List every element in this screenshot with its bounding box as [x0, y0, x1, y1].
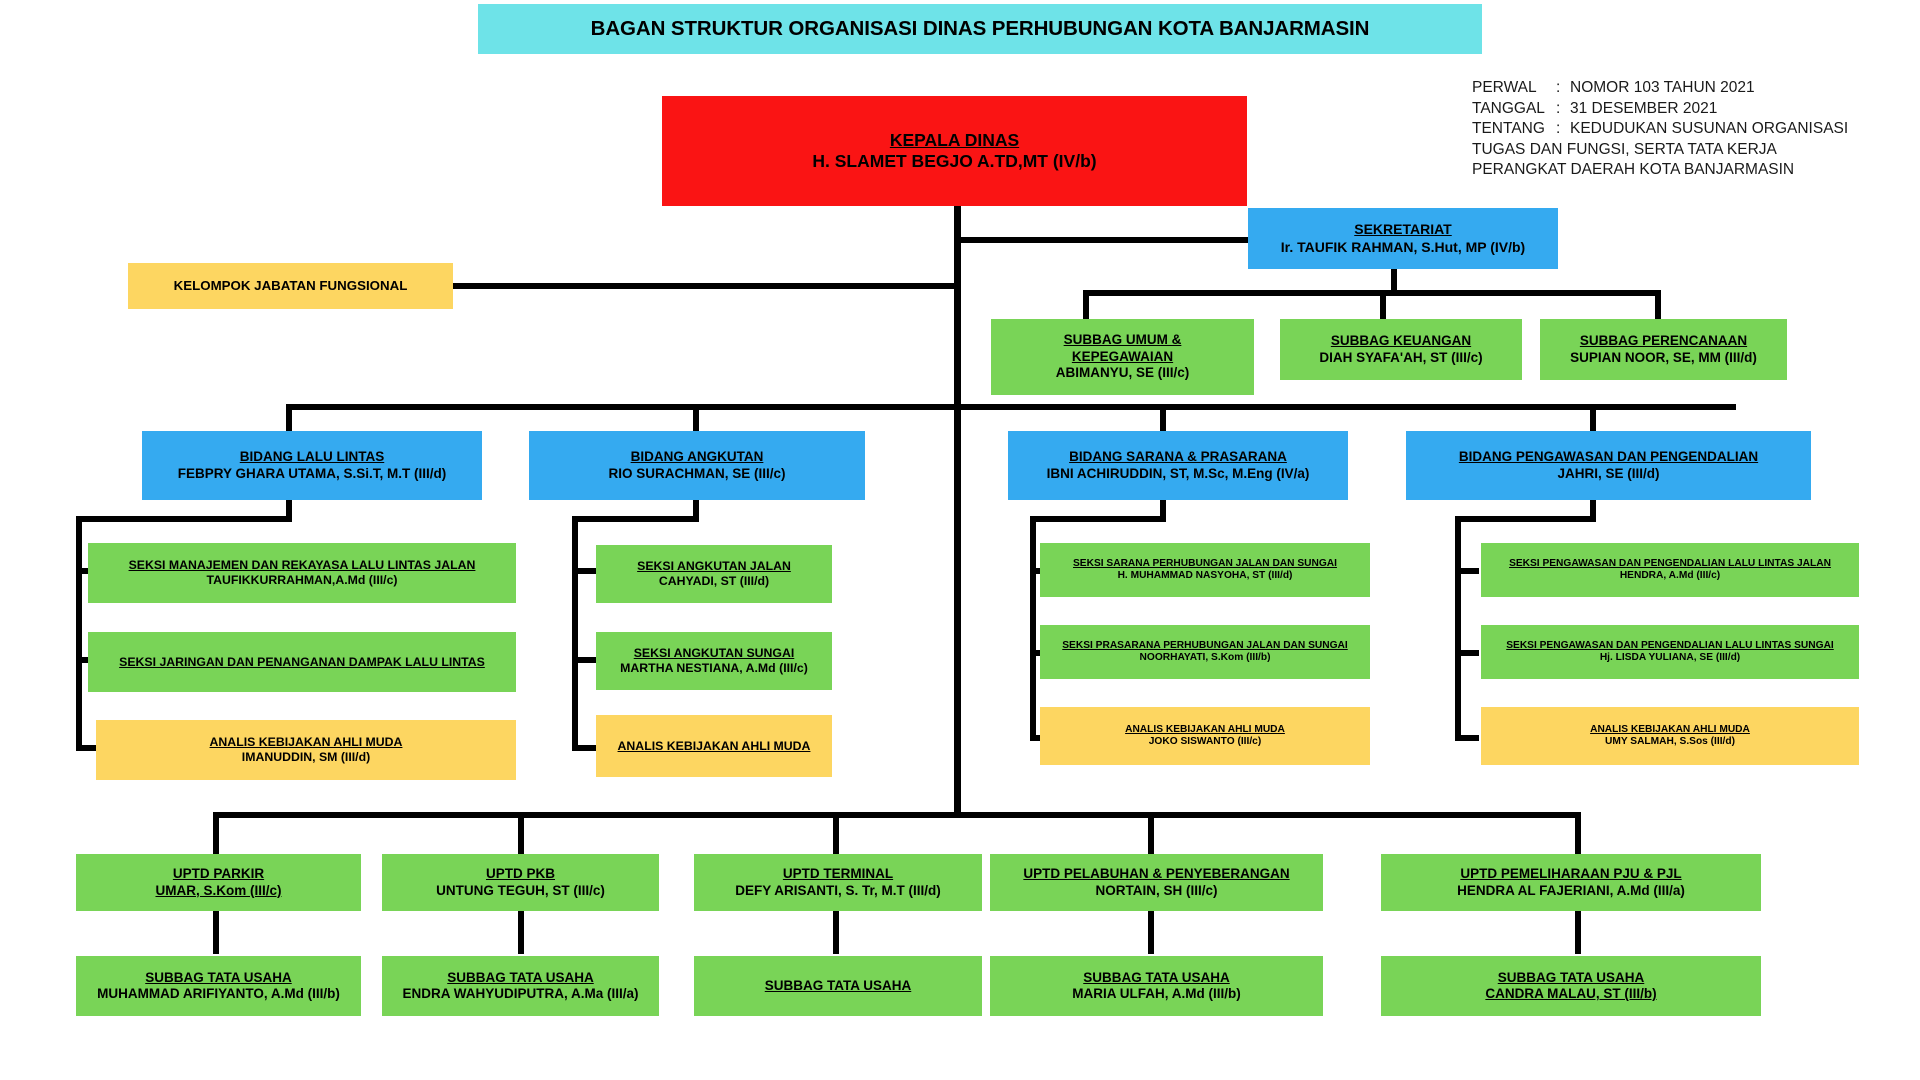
node-seksi-prasarana-perhubungan-title: SEKSI PRASARANA PERHUBUNGAN JALAN DAN SU… — [1062, 640, 1347, 652]
meta-continuation-2: PERANGKAT DAERAH KOTA BANJARMASIN — [1472, 160, 1848, 181]
node-uptd-pemeliharaan-name: HENDRA AL FAJERIANI, A.Md (III/a) — [1457, 883, 1685, 899]
node-seksi-angkutan-jalan-name: CAHYADI, ST (III/d) — [659, 574, 769, 589]
node-seksi-prasarana-perhubungan[interactable]: SEKSI PRASARANA PERHUBUNGAN JALAN DAN SU… — [1040, 625, 1370, 679]
node-analis-kebijakan-pengawasan[interactable]: ANALIS KEBIJAKAN AHLI MUDA UMY SALMAH, S… — [1481, 707, 1859, 765]
meta-label-tanggal: TANGGAL — [1472, 99, 1556, 120]
node-bidang-pengawasan-name: JAHRI, SE (III/d) — [1557, 466, 1659, 482]
node-subbag-umum-title-line2: KEPEGAWAIAN — [1072, 349, 1173, 365]
node-bidang-angkutan[interactable]: BIDANG ANGKUTAN RIO SURACHMAN, SE (III/c… — [529, 431, 865, 500]
node-subbag-umum-title-line1: SUBBAG UMUM & — [1064, 332, 1182, 348]
node-seksi-manajemen-rekayasa-name: TAUFIKKURRAHMAN,A.Md (III/c) — [206, 573, 397, 588]
node-analis-kebijakan-angkutan-title: ANALIS KEBIJAKAN AHLI MUDA — [618, 739, 811, 754]
connector-uptd2-to-subbag — [518, 910, 524, 954]
node-subbag-tu-parkir-title: SUBBAG TATA USAHA — [145, 970, 292, 986]
connector-bidang4-rail-top — [1455, 516, 1596, 522]
node-sekretariat[interactable]: SEKRETARIAT Ir. TAUFIK RAHMAN, S.Hut, MP… — [1248, 208, 1558, 269]
connector-uptd-drop-2 — [518, 812, 524, 854]
node-seksi-angkutan-sungai[interactable]: SEKSI ANGKUTAN SUNGAI MARTHA NESTIANA, A… — [596, 632, 832, 690]
node-uptd-terminal-name: DEFY ARISANTI, S. Tr, M.T (III/d) — [735, 883, 941, 899]
node-analis-kebijakan-lalu-lintas-name: IMANUDDIN, SM (III/d) — [242, 750, 370, 765]
node-sekretariat-title: SEKRETARIAT — [1354, 221, 1451, 238]
node-seksi-pengawasan-jalan-title: SEKSI PENGAWASAN DAN PENGENDALIAN LALU L… — [1509, 558, 1831, 570]
connector-bidang4-child-1 — [1455, 568, 1479, 574]
regulation-metadata: PERWAL:NOMOR 103 TAHUN 2021 TANGGAL:31 D… — [1472, 78, 1848, 181]
chart-title-banner: BAGAN STRUKTUR ORGANISASI DINAS PERHUBUN… — [478, 4, 1482, 54]
connector-bidang2-child-3 — [572, 745, 596, 751]
node-bidang-angkutan-title: BIDANG ANGKUTAN — [631, 449, 764, 465]
connector-bidang4-child-2 — [1455, 650, 1479, 656]
node-seksi-pengawasan-sungai-title: SEKSI PENGAWASAN DAN PENGENDALIAN LALU L… — [1506, 640, 1834, 652]
meta-row-perwal: PERWAL:NOMOR 103 TAHUN 2021 — [1472, 78, 1848, 99]
node-subbag-tu-pelabuhan-name: MARIA ULFAH, A.Md (III/b) — [1072, 986, 1240, 1002]
meta-label-tentang: TENTANG — [1472, 119, 1556, 140]
node-analis-kebijakan-lalu-lintas[interactable]: ANALIS KEBIJAKAN AHLI MUDA IMANUDDIN, SM… — [96, 720, 516, 780]
node-subbag-tu-pkb-title: SUBBAG TATA USAHA — [447, 970, 594, 986]
node-seksi-angkutan-jalan[interactable]: SEKSI ANGKUTAN JALAN CAHYADI, ST (III/d) — [596, 545, 832, 603]
connector-uptd4-to-subbag — [1148, 910, 1154, 954]
connector-uptd-drop-1 — [213, 812, 219, 854]
node-seksi-pengawasan-sungai-name: Hj. LISDA YULIANA, SE (III/d) — [1600, 652, 1740, 664]
node-subbag-tata-usaha-parkir[interactable]: SUBBAG TATA USAHA MUHAMMAD ARIFIYANTO, A… — [76, 956, 361, 1016]
connector-bidang2-rail-top — [572, 516, 699, 522]
connector-uptd-drop-4 — [1148, 812, 1154, 854]
node-subbag-keuangan[interactable]: SUBBAG KEUANGAN DIAH SYAFA'AH, ST (III/c… — [1280, 319, 1522, 380]
node-subbag-tu-pkb-name: ENDRA WAHYUDIPUTRA, A.Ma (III/a) — [402, 986, 638, 1002]
connector-bidang2-rail — [572, 516, 578, 751]
connector-bidang4-rail — [1455, 516, 1461, 741]
connector-uptd-drop-3 — [833, 812, 839, 854]
connector-bidang-drop-4 — [1590, 404, 1596, 432]
node-bidang-lalu-lintas[interactable]: BIDANG LALU LINTAS FEBPRY GHARA UTAMA, S… — [142, 431, 482, 500]
node-subbag-umum-kepegawaian[interactable]: SUBBAG UMUM & KEPEGAWAIAN ABIMANYU, SE (… — [991, 319, 1254, 395]
chart-title: BAGAN STRUKTUR ORGANISASI DINAS PERHUBUN… — [591, 17, 1370, 41]
node-uptd-pemeliharaan-title: UPTD PEMELIHARAAN PJU & PJL — [1460, 866, 1681, 882]
node-subbag-tu-parkir-name: MUHAMMAD ARIFIYANTO, A.Md (III/b) — [97, 986, 340, 1002]
connector-uptd-bus — [213, 812, 1581, 818]
connector-bidang4-child-3 — [1455, 735, 1479, 741]
node-analis-kebijakan-angkutan[interactable]: ANALIS KEBIJAKAN AHLI MUDA — [596, 715, 832, 777]
connector-bidang-drop-2 — [693, 404, 699, 432]
node-seksi-sarana-perhubungan-name: H. MUHAMMAD NASYOHA, ST (III/d) — [1118, 570, 1293, 582]
connector-bidang1-rail-top — [76, 516, 292, 522]
node-bidang-sarana-prasarana-title: BIDANG SARANA & PRASARANA — [1069, 449, 1287, 465]
connector-uptd5-to-subbag — [1575, 910, 1581, 954]
connector-head-to-sekretariat — [954, 237, 1254, 243]
node-seksi-pengawasan-jalan[interactable]: SEKSI PENGAWASAN DAN PENGENDALIAN LALU L… — [1481, 543, 1859, 597]
node-bidang-lalu-lintas-title: BIDANG LALU LINTAS — [240, 449, 385, 465]
meta-value-perwal: NOMOR 103 TAHUN 2021 — [1570, 79, 1755, 96]
connector-bidang2-child-1 — [572, 568, 596, 574]
node-seksi-pengawasan-sungai[interactable]: SEKSI PENGAWASAN DAN PENGENDALIAN LALU L… — [1481, 625, 1859, 679]
connector-bidang2-child-2 — [572, 657, 596, 663]
node-bidang-sarana-prasarana-name: IBNI ACHIRUDDIN, ST, M.Sc, M.Eng (IV/a) — [1047, 466, 1310, 482]
node-seksi-jaringan-dampak-title: SEKSI JARINGAN DAN PENANGANAN DAMPAK LAL… — [119, 655, 485, 670]
node-uptd-parkir[interactable]: UPTD PARKIR UMAR, S.Kom (III/c) — [76, 854, 361, 911]
node-sekretariat-name: Ir. TAUFIK RAHMAN, S.Hut, MP (IV/b) — [1281, 239, 1525, 256]
meta-value-tanggal: 31 DESEMBER 2021 — [1570, 100, 1717, 117]
node-subbag-umum-name: ABIMANYU, SE (III/c) — [1056, 365, 1190, 381]
node-seksi-angkutan-sungai-title: SEKSI ANGKUTAN SUNGAI — [634, 646, 795, 661]
node-subbag-tu-pelabuhan-title: SUBBAG TATA USAHA — [1083, 970, 1230, 986]
node-uptd-pelabuhan[interactable]: UPTD PELABUHAN & PENYEBERANGAN NORTAIN, … — [990, 854, 1323, 911]
connector-fungsional-to-trunk — [452, 283, 960, 289]
node-subbag-perencanaan-name: SUPIAN NOOR, SE, MM (III/d) — [1570, 350, 1757, 366]
node-seksi-prasarana-perhubungan-name: NOORHAYATI, S.Kom (III/b) — [1140, 652, 1271, 664]
node-seksi-pengawasan-jalan-name: HENDRA, A.Md (III/c) — [1620, 570, 1720, 582]
node-bidang-lalu-lintas-name: FEBPRY GHARA UTAMA, S.Si.T, M.T (III/d) — [178, 466, 447, 482]
connector-subbag-drop-3 — [1655, 290, 1661, 320]
meta-value-tentang: KEDUDUKAN SUSUNAN ORGANISASI — [1570, 120, 1848, 137]
node-seksi-manajemen-rekayasa-title: SEKSI MANAJEMEN DAN REKAYASA LALU LINTAS… — [129, 558, 476, 573]
node-kepala-dinas-name: H. SLAMET BEGJO A.TD,MT (IV/b) — [812, 151, 1096, 172]
node-uptd-pelabuhan-name: NORTAIN, SH (III/c) — [1095, 883, 1217, 899]
connector-bidang-drop-1 — [286, 404, 292, 432]
node-bidang-pengawasan-title: BIDANG PENGAWASAN DAN PENGENDALIAN — [1459, 449, 1758, 465]
org-chart-canvas: BAGAN STRUKTUR ORGANISASI DINAS PERHUBUN… — [0, 0, 1920, 1080]
connector-bidang-bus — [286, 404, 1736, 410]
node-subbag-tata-usaha-pkb[interactable]: SUBBAG TATA USAHA ENDRA WAHYUDIPUTRA, A.… — [382, 956, 659, 1016]
node-analis-kebijakan-sarana[interactable]: ANALIS KEBIJAKAN AHLI MUDA JOKO SISWANTO… — [1040, 707, 1370, 765]
node-subbag-tu-pemeliharaan-name: CANDRA MALAU, ST (III/b) — [1485, 986, 1656, 1002]
node-subbag-perencanaan-title: SUBBAG PERENCANAAN — [1580, 333, 1747, 349]
node-uptd-terminal[interactable]: UPTD TERMINAL DEFY ARISANTI, S. Tr, M.T … — [694, 854, 982, 911]
node-subbag-tu-pemeliharaan-title: SUBBAG TATA USAHA — [1498, 970, 1645, 986]
node-subbag-perencanaan[interactable]: SUBBAG PERENCANAAN SUPIAN NOOR, SE, MM (… — [1540, 319, 1787, 380]
node-kelompok-jabatan-fungsional-title: KELOMPOK JABATAN FUNGSIONAL — [174, 278, 408, 294]
meta-continuation-1: TUGAS DAN FUNGSI, SERTA TATA KERJA — [1472, 140, 1848, 161]
connector-subbag-drop-2 — [1380, 290, 1386, 320]
node-kepala-dinas[interactable]: KEPALA DINAS H. SLAMET BEGJO A.TD,MT (IV… — [662, 96, 1247, 206]
meta-label-perwal: PERWAL — [1472, 78, 1556, 99]
connector-uptd3-to-subbag — [833, 910, 839, 954]
node-uptd-parkir-name: UMAR, S.Kom (III/c) — [155, 883, 281, 899]
node-seksi-jaringan-dampak[interactable]: SEKSI JARINGAN DAN PENANGANAN DAMPAK LAL… — [88, 632, 516, 692]
node-subbag-tata-usaha-pemeliharaan[interactable]: SUBBAG TATA USAHA CANDRA MALAU, ST (III/… — [1381, 956, 1761, 1016]
node-analis-kebijakan-pengawasan-title: ANALIS KEBIJAKAN AHLI MUDA — [1590, 724, 1750, 736]
node-seksi-sarana-perhubungan-title: SEKSI SARANA PERHUBUNGAN JALAN DAN SUNGA… — [1073, 558, 1337, 570]
connector-subbag-bus — [1083, 290, 1661, 296]
node-analis-kebijakan-sarana-title: ANALIS KEBIJAKAN AHLI MUDA — [1125, 724, 1285, 736]
node-analis-kebijakan-sarana-name: JOKO SISWANTO (III/c) — [1149, 736, 1261, 748]
node-analis-kebijakan-lalu-lintas-title: ANALIS KEBIJAKAN AHLI MUDA — [210, 735, 403, 750]
node-uptd-pelabuhan-title: UPTD PELABUHAN & PENYEBERANGAN — [1023, 866, 1289, 882]
meta-row-tanggal: TANGGAL:31 DESEMBER 2021 — [1472, 99, 1848, 120]
node-subbag-keuangan-title: SUBBAG KEUANGAN — [1331, 333, 1471, 349]
node-subbag-tata-usaha-pelabuhan[interactable]: SUBBAG TATA USAHA MARIA ULFAH, A.Md (III… — [990, 956, 1323, 1016]
node-bidang-pengawasan-pengendalian[interactable]: BIDANG PENGAWASAN DAN PENGENDALIAN JAHRI… — [1406, 431, 1811, 500]
meta-colon-perwal: : — [1556, 78, 1570, 99]
node-subbag-tata-usaha-terminal[interactable]: SUBBAG TATA USAHA — [694, 956, 982, 1016]
connector-bidang1-rail — [76, 516, 82, 751]
connector-bidang-drop-3 — [1160, 404, 1166, 432]
node-bidang-sarana-prasarana[interactable]: BIDANG SARANA & PRASARANA IBNI ACHIRUDDI… — [1008, 431, 1348, 500]
node-uptd-parkir-title: UPTD PARKIR — [173, 866, 264, 882]
node-uptd-pkb-name: UNTUNG TEGUH, ST (III/c) — [436, 883, 605, 899]
node-subbag-keuangan-name: DIAH SYAFA'AH, ST (III/c) — [1319, 350, 1482, 366]
node-uptd-pkb[interactable]: UPTD PKB UNTUNG TEGUH, ST (III/c) — [382, 854, 659, 911]
meta-row-tentang: TENTANG:KEDUDUKAN SUSUNAN ORGANISASI — [1472, 119, 1848, 140]
node-kelompok-jabatan-fungsional[interactable]: KELOMPOK JABATAN FUNGSIONAL — [128, 263, 453, 309]
node-seksi-angkutan-sungai-name: MARTHA NESTIANA, A.Md (III/c) — [620, 661, 808, 676]
connector-subbag-drop-1 — [1083, 290, 1089, 320]
node-subbag-tu-terminal-title: SUBBAG TATA USAHA — [765, 978, 912, 994]
meta-colon-tanggal: : — [1556, 99, 1570, 120]
node-seksi-angkutan-jalan-title: SEKSI ANGKUTAN JALAN — [637, 559, 791, 574]
connector-uptd-drop-5 — [1575, 812, 1581, 854]
node-seksi-sarana-perhubungan[interactable]: SEKSI SARANA PERHUBUNGAN JALAN DAN SUNGA… — [1040, 543, 1370, 597]
node-bidang-angkutan-name: RIO SURACHMAN, SE (III/c) — [608, 466, 785, 482]
connector-bidang3-rail-top — [1030, 516, 1166, 522]
node-kepala-dinas-title: KEPALA DINAS — [890, 130, 1019, 151]
node-seksi-manajemen-rekayasa[interactable]: SEKSI MANAJEMEN DAN REKAYASA LALU LINTAS… — [88, 543, 516, 603]
node-uptd-pkb-title: UPTD PKB — [486, 866, 555, 882]
connector-trunk-main — [954, 205, 961, 817]
node-uptd-pemeliharaan-pju-pjl[interactable]: UPTD PEMELIHARAAN PJU & PJL HENDRA AL FA… — [1381, 854, 1761, 911]
node-uptd-terminal-title: UPTD TERMINAL — [783, 866, 893, 882]
node-analis-kebijakan-pengawasan-name: UMY SALMAH, S.Sos (III/d) — [1605, 736, 1735, 748]
connector-bidang3-rail — [1030, 516, 1036, 741]
meta-colon-tentang: : — [1556, 119, 1570, 140]
connector-uptd1-to-subbag — [213, 910, 219, 954]
